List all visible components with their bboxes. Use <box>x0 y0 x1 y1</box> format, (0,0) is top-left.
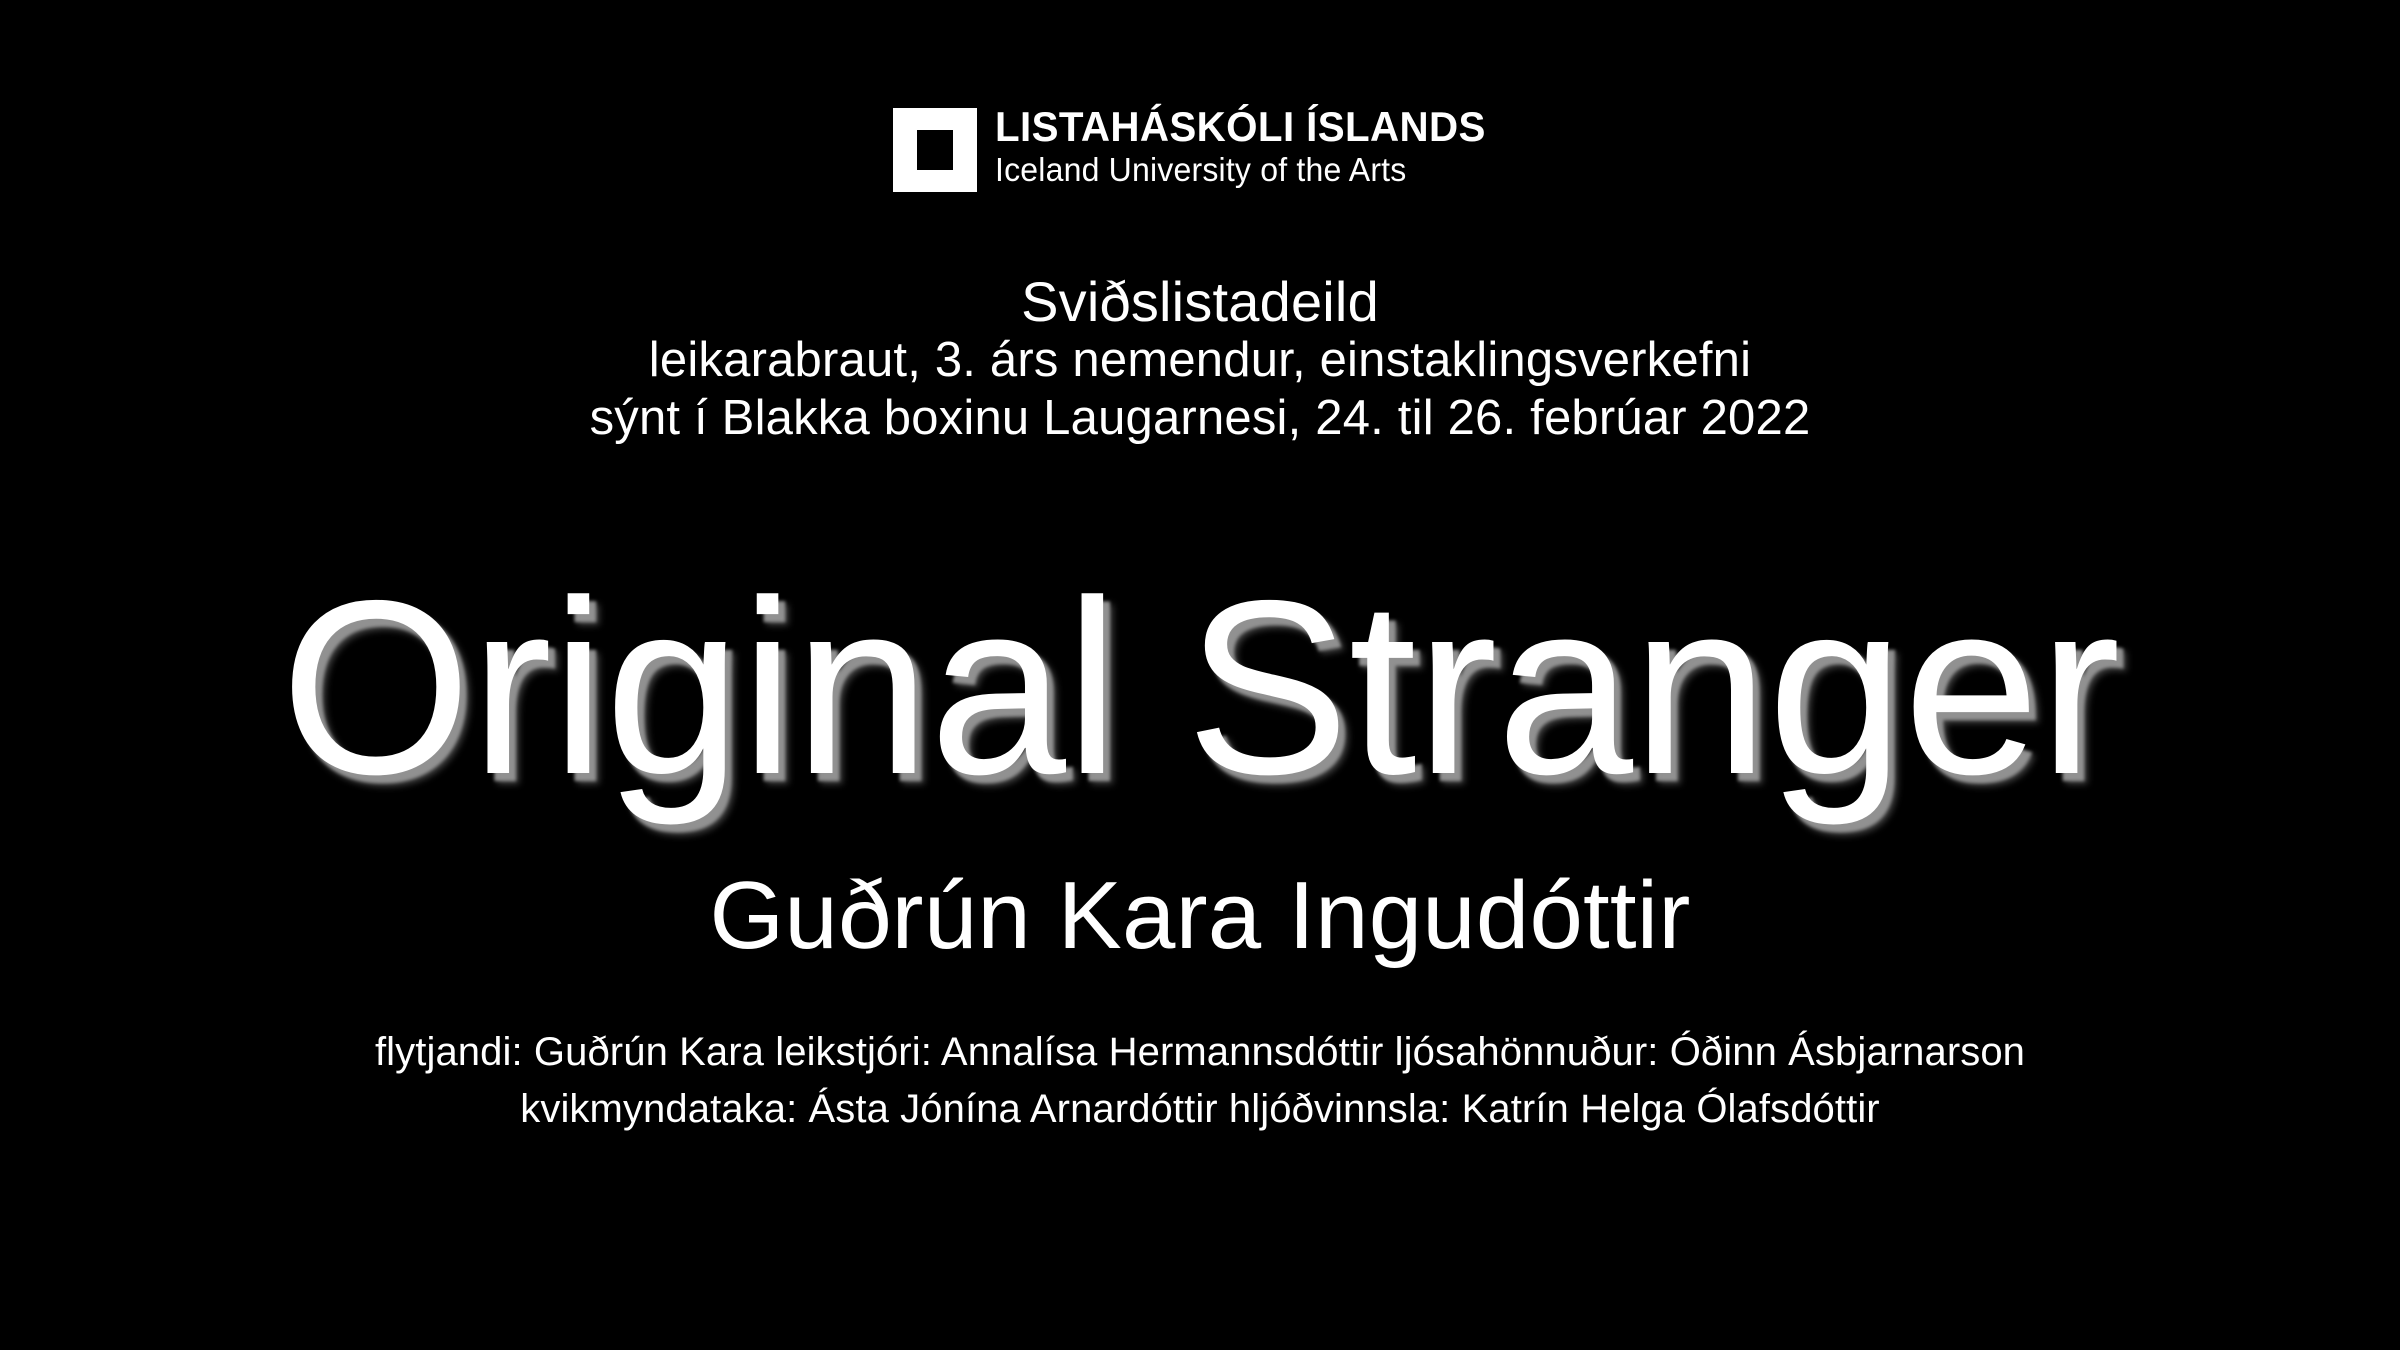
logo-name-icelandic: LISTAHÁSKÓLI ÍSLANDS <box>995 106 1486 149</box>
logo-wordmark: LISTAHÁSKÓLI ÍSLANDS Iceland University … <box>995 104 1506 190</box>
programme-detail-line: leikarabraut, 3. árs nemendur, einstakli… <box>0 332 2400 389</box>
credits-row-1: flytjandi: Guðrún Kara leikstjóri: Annal… <box>0 1024 2400 1081</box>
logo-name-english: Iceland University of the Arts <box>995 151 1491 190</box>
page-title: Original Stranger <box>12 563 2388 811</box>
university-logo-lockup: LISTAHÁSKÓLI ÍSLANDS Iceland University … <box>0 104 2400 192</box>
department-name: Sviðslistadeild <box>0 272 2400 332</box>
square-in-square-logo-icon <box>893 108 977 192</box>
poster-slide: LISTAHÁSKÓLI ÍSLANDS Iceland University … <box>0 0 2400 1350</box>
venue-and-dates-line: sýnt í Blakka boxinu Laugarnesi, 24. til… <box>0 390 2400 447</box>
credits-row-2: kvikmyndataka: Ásta Jónína Arnardóttir h… <box>0 1081 2400 1138</box>
programme-block: Sviðslistadeild leikarabraut, 3. árs nem… <box>0 272 2400 447</box>
logo-inner: LISTAHÁSKÓLI ÍSLANDS Iceland University … <box>893 104 1506 192</box>
artist-name: Guðrún Kara Ingudóttir <box>0 866 2400 967</box>
logo-icon-inner-square <box>917 130 953 170</box>
credits-block: flytjandi: Guðrún Kara leikstjóri: Annal… <box>0 1024 2400 1138</box>
